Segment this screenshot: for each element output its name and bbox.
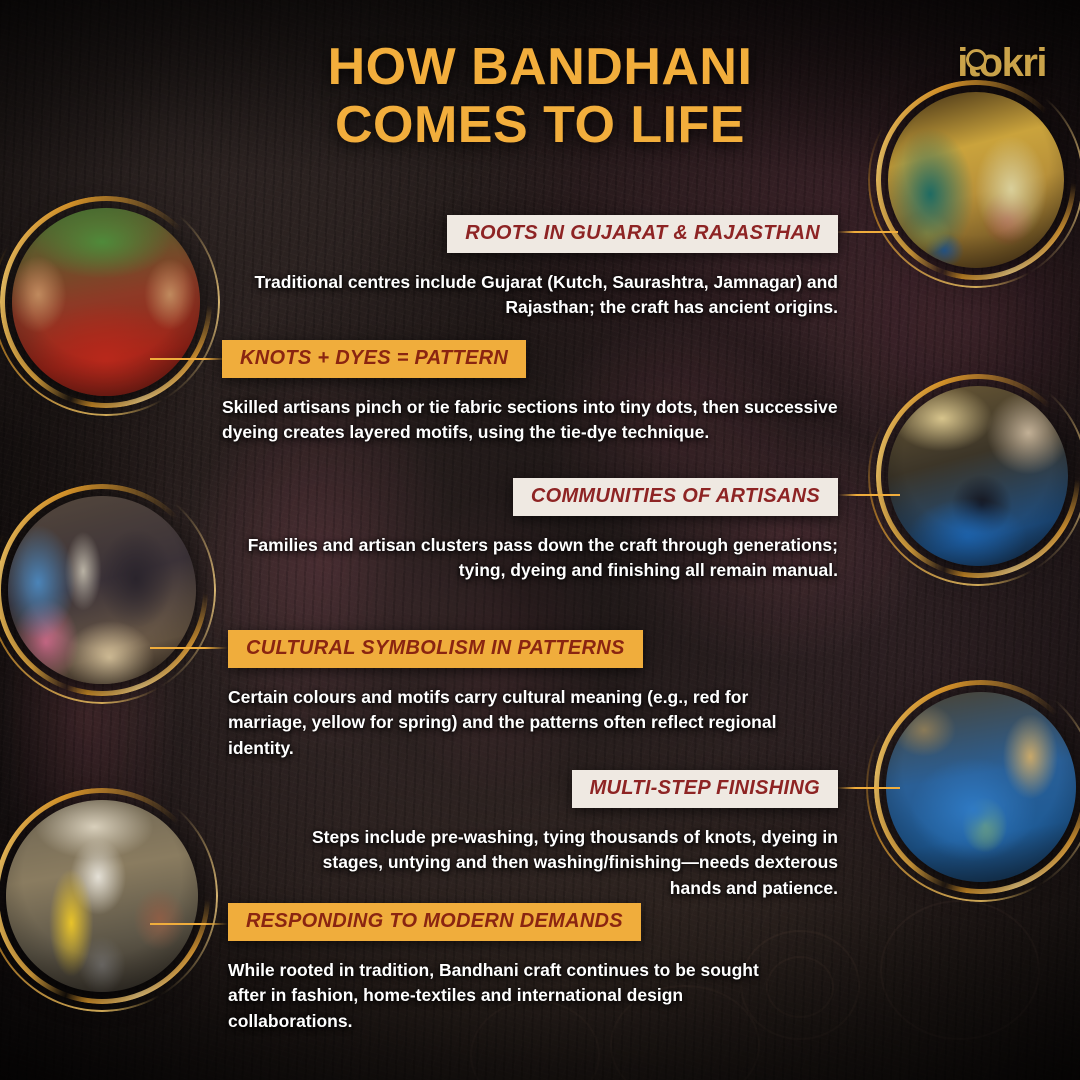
medallion-photo	[12, 208, 200, 396]
section-cultural-symbolism-in-patterns: CULTURAL SYMBOLISM IN PATTERNS Certain c…	[228, 630, 828, 761]
medallion-photo	[888, 92, 1064, 268]
medallion-artisan-lifting-yellow-cloth	[6, 800, 198, 992]
brand-logo-dot-icon	[966, 49, 987, 70]
section-communities-of-artisans: COMMUNITIES OF ARTISANS Families and art…	[238, 478, 838, 584]
connector-line-5	[836, 787, 900, 789]
connector-line-3	[838, 494, 900, 496]
medallion-photo	[8, 496, 196, 684]
title-line-1: HOW BANDHANI	[328, 38, 753, 96]
connector-line-4	[150, 647, 228, 649]
section-responding-to-modern-demands: RESPONDING TO MODERN DEMANDS While roote…	[228, 903, 828, 1034]
section-body-text: Families and artisan clusters pass down …	[238, 533, 838, 584]
medallion-dyer-blue-tub	[888, 386, 1068, 566]
medallion-photo	[6, 800, 198, 992]
medallion-photo	[886, 692, 1076, 882]
section-heading-chip: MULTI-STEP FINISHING	[572, 770, 838, 808]
medallion-photo	[888, 386, 1068, 566]
medallion-indigo-vat-yellow-cloth	[886, 692, 1076, 882]
medallion-hands-tying-red-fabric	[12, 208, 200, 396]
medallion-women-tying-cream-fabric	[8, 496, 196, 684]
section-body-text: Traditional centres include Gujarat (Kut…	[238, 270, 838, 321]
section-body-text: While rooted in tradition, Bandhani craf…	[228, 958, 778, 1034]
section-heading-chip: ROOTS IN GUJARAT & RAJASTHAN	[447, 215, 838, 253]
section-heading-chip: COMMUNITIES OF ARTISANS	[513, 478, 838, 516]
section-body-text: Steps include pre-washing, tying thousan…	[298, 825, 838, 901]
connector-line-1	[836, 231, 898, 233]
section-heading-chip: KNOTS + DYES = PATTERN	[222, 340, 526, 378]
medallion-women-tying-knots-yellow-room	[888, 92, 1064, 268]
connector-line-2	[150, 358, 228, 360]
section-roots-in-gujarat-rajasthan: ROOTS IN GUJARAT & RAJASTHAN Traditional…	[238, 215, 838, 321]
section-heading-chip: RESPONDING TO MODERN DEMANDS	[228, 903, 641, 941]
section-body-text: Certain colours and motifs carry cultura…	[228, 685, 788, 761]
section-knots-dyes-pattern: KNOTS + DYES = PATTERN Skilled artisans …	[222, 340, 842, 446]
infographic-poster: HOW BANDHANI COMES TO LIFE itokri	[0, 0, 1080, 1080]
connector-line-6	[150, 923, 228, 925]
section-multi-step-finishing: MULTI-STEP FINISHING Steps include pre-w…	[238, 770, 838, 901]
section-heading-chip: CULTURAL SYMBOLISM IN PATTERNS	[228, 630, 643, 668]
section-body-text: Skilled artisans pinch or tie fabric sec…	[222, 395, 842, 446]
